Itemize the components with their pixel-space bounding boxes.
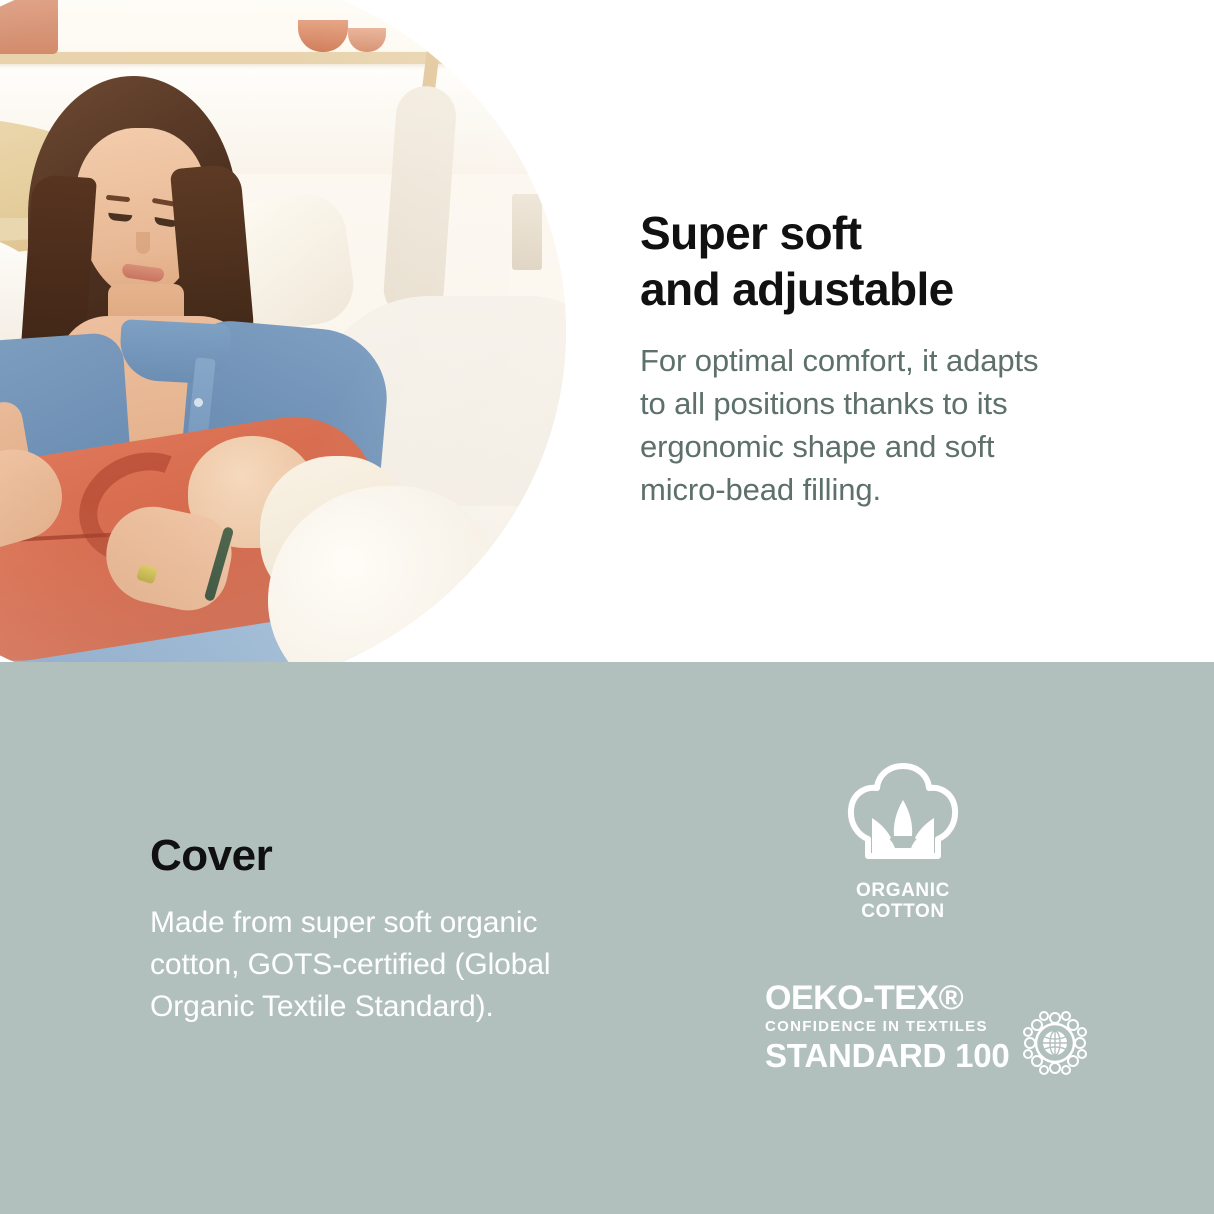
cotton-boll-icon	[828, 760, 978, 878]
product-feature-page: Super soft and adjustable For optimal co…	[0, 0, 1214, 1214]
photo-wall-frame	[512, 194, 542, 270]
feature-description: For optimal comfort, it adapts to all po…	[640, 339, 1160, 511]
organic-cotton-badge: ORGANIC COTTON	[828, 760, 978, 920]
photo-shelf	[0, 52, 520, 64]
photo-shirt-button-top	[194, 398, 203, 407]
oeko-tex-row: OEKO-TEX® CONFIDENCE IN TEXTILES STANDAR…	[765, 980, 1075, 1081]
lifestyle-photo	[0, 0, 566, 662]
cover-copy-block: Cover Made from super soft organic cotto…	[150, 830, 690, 1028]
cover-description: Made from super soft organic cotton, GOT…	[150, 902, 690, 1028]
oeko-tex-standard: STANDARD 100	[765, 1038, 1010, 1074]
oeko-tex-badge: OEKO-TEX® CONFIDENCE IN TEXTILES STANDAR…	[765, 980, 1075, 1081]
top-section: Super soft and adjustable For optimal co…	[0, 0, 1214, 662]
bottom-section: Cover Made from super soft organic cotto…	[0, 662, 1214, 1214]
oeko-tex-subtitle: CONFIDENCE IN TEXTILES	[765, 1016, 1010, 1038]
organic-cotton-label: ORGANIC COTTON	[828, 880, 978, 922]
photo-nose	[136, 232, 150, 254]
oeko-tex-globe-emblem-wrap	[1022, 1010, 1088, 1081]
cover-heading: Cover	[150, 830, 690, 882]
feature-headline: Super soft and adjustable	[640, 205, 1160, 317]
top-copy-block: Super soft and adjustable For optimal co…	[640, 205, 1160, 511]
oeko-tex-globe-emblem-icon	[1022, 1010, 1088, 1076]
oeko-tex-text: OEKO-TEX® CONFIDENCE IN TEXTILES STANDAR…	[765, 980, 1010, 1074]
photo-terracotta-mug	[0, 0, 58, 54]
photo-canvas	[0, 0, 566, 662]
oeko-tex-title: OEKO-TEX®	[765, 980, 1010, 1016]
